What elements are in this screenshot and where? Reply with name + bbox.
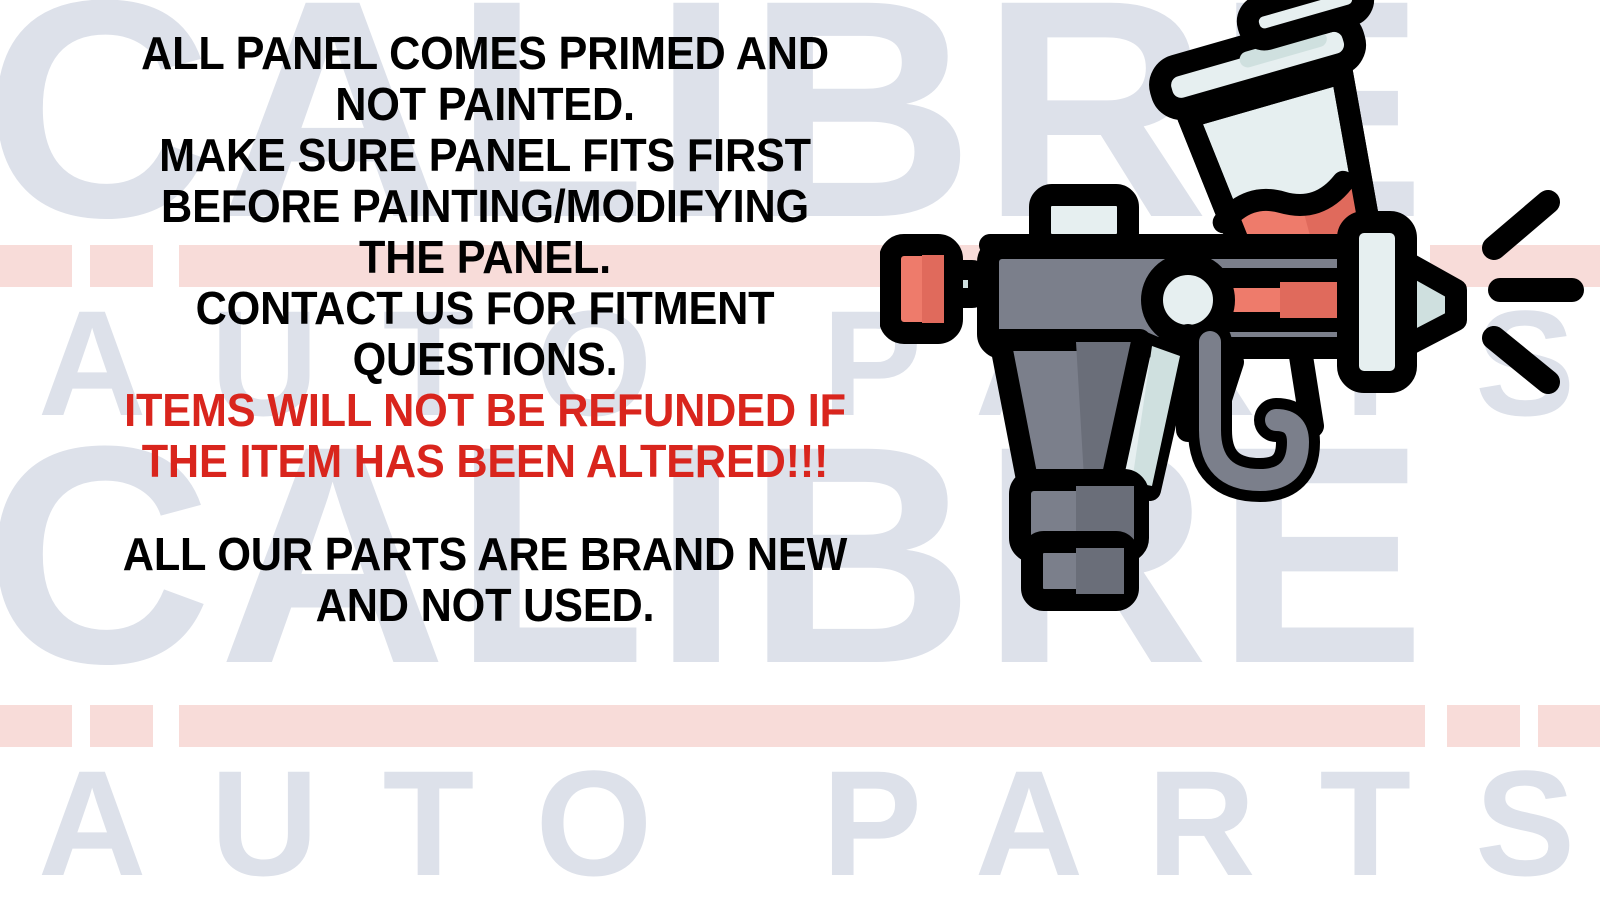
notice-line: MAKE SURE PANEL FITS FIRST: [95, 130, 875, 181]
notice-line: BEFORE PAINTING/MODIFYING: [95, 181, 875, 232]
stripe-notch: [72, 705, 90, 747]
notice-line: CONTACT US FOR FITMENT: [95, 283, 875, 334]
notice-warning-line: THE ITEM HAS BEEN ALTERED!!!: [95, 436, 875, 487]
spray-gun-illustration: [880, 0, 1600, 670]
stripe-notch: [1425, 705, 1447, 747]
spray-lines-icon: [1494, 202, 1572, 382]
notice-line: ALL PANEL COMES PRIMED AND: [95, 28, 875, 79]
accent-stripe-bottom: [0, 705, 1600, 747]
trigger-guard: [1210, 342, 1298, 480]
notice-warning-line: ITEMS WILL NOT BE REFUNDED IF: [95, 385, 875, 436]
promo-banner: CALIBRE AUTO PARTS CALIBRE AUTO PARTS AL…: [0, 0, 1600, 900]
notice-text-block: ALL PANEL COMES PRIMED AND NOT PAINTED. …: [95, 28, 875, 632]
notice-line: QUESTIONS.: [95, 334, 875, 385]
handle: [1020, 480, 1138, 600]
stripe-notch: [72, 245, 90, 287]
air-inlet: [890, 245, 978, 333]
stripe-notch: [153, 705, 179, 747]
notice-line: ALL OUR PARTS ARE BRAND NEW: [95, 529, 875, 580]
watermark-autoparts-bottom: AUTO PARTS: [38, 748, 1600, 898]
notice-line: NOT PAINTED.: [95, 79, 875, 130]
notice-line: AND NOT USED.: [95, 580, 875, 631]
stripe-notch: [1520, 705, 1538, 747]
notice-line: THE PANEL.: [95, 232, 875, 283]
line-spacer: [95, 487, 875, 529]
